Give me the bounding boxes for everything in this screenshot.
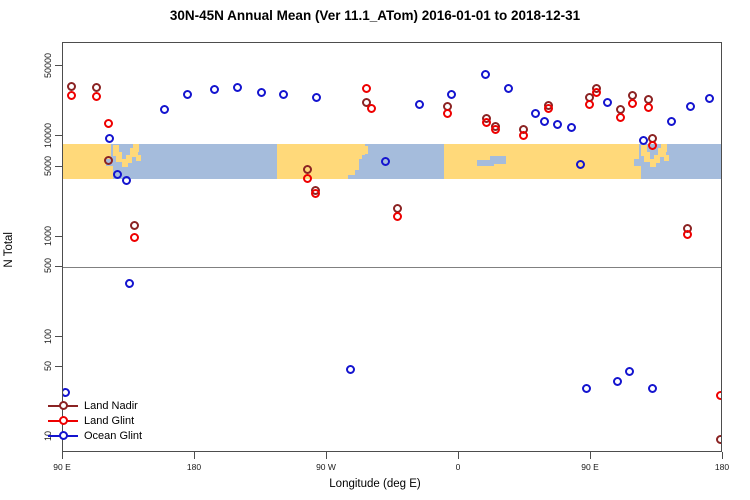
legend-symbol-icon [48, 415, 78, 427]
x-tick [458, 452, 459, 459]
map-landmass [477, 144, 490, 160]
data-point-ocean [233, 83, 242, 92]
map-landmass [490, 144, 506, 156]
map-landmass [444, 144, 459, 179]
data-point-ocean [540, 117, 549, 126]
data-point-ocean [346, 365, 355, 374]
data-point-glint [303, 174, 312, 183]
y-tick [55, 266, 62, 267]
y-tick-label-text: 1000 [44, 226, 53, 246]
map-landmass [661, 144, 667, 152]
data-point-nadir [130, 221, 139, 230]
y-tick-label-text: 500 [44, 258, 53, 273]
legend-item-ocean[interactable]: Ocean Glint [48, 428, 142, 443]
y-tick [55, 135, 62, 136]
legend-symbol-icon [48, 400, 78, 412]
legend-marker-icon [59, 431, 68, 440]
map-landmass [292, 144, 348, 179]
data-point-ocean [279, 90, 288, 99]
data-point-ocean [312, 93, 321, 102]
data-point-glint [716, 391, 722, 400]
map-landmass [634, 166, 641, 179]
data-point-glint [585, 100, 594, 109]
y-tick [55, 336, 62, 337]
x-tick [590, 452, 591, 459]
map-landmass [524, 144, 547, 179]
data-point-ocean [415, 100, 424, 109]
data-point-glint [67, 91, 76, 100]
data-point-glint [393, 212, 402, 221]
map-landmass [136, 155, 140, 161]
y-tick-label-text: 50000 [44, 53, 53, 78]
y-tick-label-text: 10000 [44, 123, 53, 148]
map-landmass [459, 144, 477, 179]
data-point-ocean [625, 367, 634, 376]
legend-marker-icon [59, 416, 68, 425]
y-tick [55, 65, 62, 66]
data-point-ocean [481, 70, 490, 79]
map-landmass [634, 144, 640, 159]
x-tick-label: 90 W [316, 462, 336, 472]
legend-item-nadir[interactable]: Land Nadir [48, 398, 142, 413]
data-point-ocean [105, 134, 114, 143]
y-tick-label-text: 5000 [44, 156, 53, 176]
legend-label: Ocean Glint [84, 430, 142, 442]
x-axis-label: Longitude (deg E) [0, 478, 750, 490]
data-point-ocean [648, 384, 657, 393]
data-point-ocean [122, 176, 131, 185]
map-landmass [346, 170, 355, 176]
page-title: 30N-45N Annual Mean (Ver 11.1_ATom) 2016… [0, 8, 750, 23]
data-point-ocean [667, 117, 676, 126]
data-point-ocean [582, 384, 591, 393]
x-tick [326, 452, 327, 459]
data-point-ocean [603, 98, 612, 107]
map-landmass [591, 144, 634, 179]
y-tick [55, 366, 62, 367]
map-landmass [664, 155, 668, 161]
x-tick-label: 0 [456, 462, 461, 472]
y-axis-label-text: N Total [3, 232, 15, 268]
data-point-ocean [553, 120, 562, 129]
data-point-ocean [613, 377, 622, 386]
data-point-glint [616, 113, 625, 122]
data-point-glint [592, 88, 601, 97]
data-point-glint [648, 141, 657, 150]
map-landmass [477, 166, 495, 179]
map-landmass [277, 144, 292, 179]
map-landmass [494, 164, 512, 179]
data-point-ocean [62, 388, 70, 397]
data-point-glint [130, 233, 139, 242]
data-point-glint [491, 125, 500, 134]
legend-label: Land Nadir [84, 400, 138, 412]
map-landmass [362, 146, 368, 154]
map-landmass [133, 144, 139, 152]
data-point-ocean [686, 102, 695, 111]
legend-symbol-icon [48, 430, 78, 442]
gridline-horizontal [63, 267, 722, 268]
data-point-glint [519, 131, 528, 140]
map-landmass [106, 166, 113, 179]
data-point-glint [644, 103, 653, 112]
x-tick [722, 452, 723, 459]
data-point-nadir [104, 156, 113, 165]
data-point-ocean [504, 84, 513, 93]
legend-label: Land Glint [84, 415, 134, 427]
data-point-glint [683, 230, 692, 239]
legend-marker-icon [59, 401, 68, 410]
legend: Land NadirLand GlintOcean Glint [48, 398, 142, 443]
map-landmass [63, 144, 106, 179]
y-axis-label: N Total [2, 0, 16, 500]
y-tick [55, 166, 62, 167]
data-point-glint [104, 119, 113, 128]
data-point-nadir [716, 435, 722, 444]
x-tick-label: 180 [187, 462, 201, 472]
data-point-ocean [183, 90, 192, 99]
data-point-glint [92, 92, 101, 101]
data-point-ocean [210, 85, 219, 94]
data-point-ocean [447, 90, 456, 99]
data-point-ocean [160, 105, 169, 114]
chart-page: 30N-45N Annual Mean (Ver 11.1_ATom) 2016… [0, 0, 750, 500]
data-point-nadir [92, 83, 101, 92]
data-point-glint [362, 84, 371, 93]
x-tick-label: 90 E [581, 462, 599, 472]
legend-item-glint[interactable]: Land Glint [48, 413, 142, 428]
data-point-glint [367, 104, 376, 113]
data-point-glint [482, 118, 491, 127]
y-tick [55, 236, 62, 237]
y-tick-label-text: 50 [44, 361, 53, 371]
data-point-ocean [257, 88, 266, 97]
data-point-ocean [113, 170, 122, 179]
x-tick-label: 180 [715, 462, 729, 472]
data-point-glint [443, 109, 452, 118]
world-map-band [63, 144, 722, 179]
x-tick-label: 90 E [53, 462, 71, 472]
x-tick [62, 452, 63, 459]
x-tick [194, 452, 195, 459]
data-point-ocean [531, 109, 540, 118]
data-point-glint [311, 189, 320, 198]
data-point-glint [628, 99, 637, 108]
y-tick-label-text: 100 [44, 329, 53, 344]
plot-area [62, 42, 722, 452]
data-point-ocean [125, 279, 134, 288]
data-point-ocean [567, 123, 576, 132]
data-point-ocean [705, 94, 714, 103]
data-point-glint [544, 104, 553, 113]
